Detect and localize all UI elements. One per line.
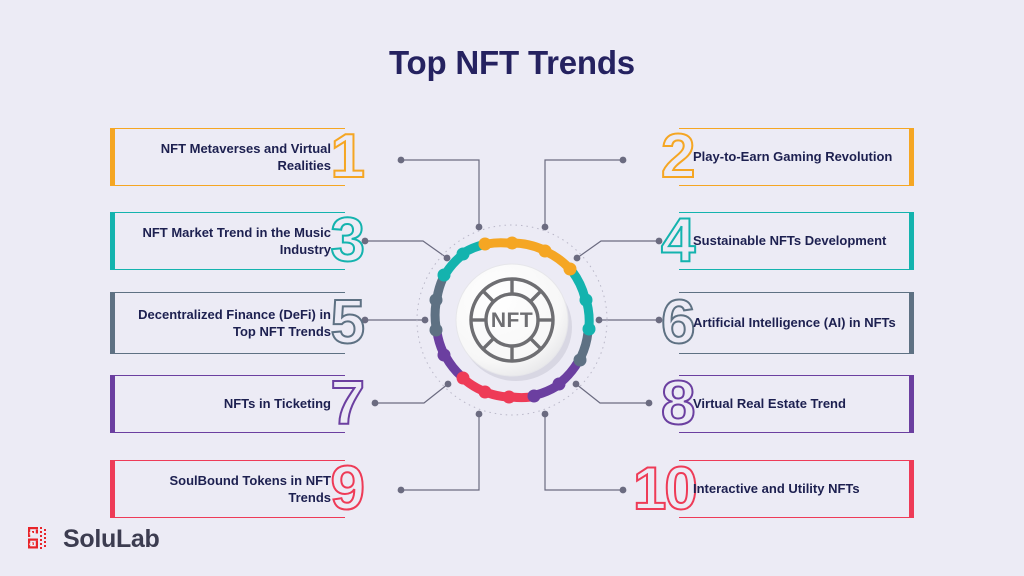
center-hub: NFT	[399, 215, 625, 425]
page-title: Top NFT Trends	[0, 44, 1024, 82]
trend-item-10[interactable]: 10 Interactive and Utility NFTs	[679, 460, 914, 518]
item-label-5: Decentralized Finance (DeFi) in Top NFT …	[110, 306, 345, 340]
item-label-2: Play-to-Earn Gaming Revolution	[679, 148, 914, 165]
trend-item-2[interactable]: 2 Play-to-Earn Gaming Revolution	[679, 128, 914, 186]
svg-text:SL: SL	[29, 531, 34, 535]
trend-item-5[interactable]: 5 Decentralized Finance (DeFi) in Top NF…	[110, 292, 345, 354]
svg-text:OU: OU	[29, 542, 35, 546]
item-label-8: Virtual Real Estate Trend	[679, 395, 914, 412]
nft-center-label: NFT	[491, 309, 533, 332]
item-label-10: Interactive and Utility NFTs	[679, 480, 914, 497]
trend-item-3[interactable]: 3 NFT Market Trend in the Music Industry	[110, 212, 345, 270]
logo-text: SoluLab	[63, 525, 160, 554]
trend-item-4[interactable]: 4 Sustainable NFTs Development	[679, 212, 914, 270]
trend-item-7[interactable]: 7 NFTs in Ticketing	[110, 375, 345, 433]
trend-item-1[interactable]: 1 NFT Metaverses and Virtual Realities	[110, 128, 345, 186]
item-label-7: NFTs in Ticketing	[110, 395, 345, 412]
item-label-6: Artificial Intelligence (AI) in NFTs	[679, 314, 914, 331]
item-label-3: NFT Market Trend in the Music Industry	[110, 224, 345, 258]
item-label-9: SoulBound Tokens in NFT Trends	[110, 472, 345, 506]
item-label-4: Sustainable NFTs Development	[679, 232, 914, 249]
trend-item-8[interactable]: 8 Virtual Real Estate Trend	[679, 375, 914, 433]
solulab-qr-mark-icon: SL OU	[28, 527, 54, 553]
item-label-1: NFT Metaverses and Virtual Realities	[110, 140, 345, 174]
solulab-logo[interactable]: SL OU SoluLab	[28, 525, 160, 554]
trend-item-6[interactable]: 6 Artificial Intelligence (AI) in NFTs	[679, 292, 914, 354]
trend-item-9[interactable]: 9 SoulBound Tokens in NFT Trends	[110, 460, 345, 518]
